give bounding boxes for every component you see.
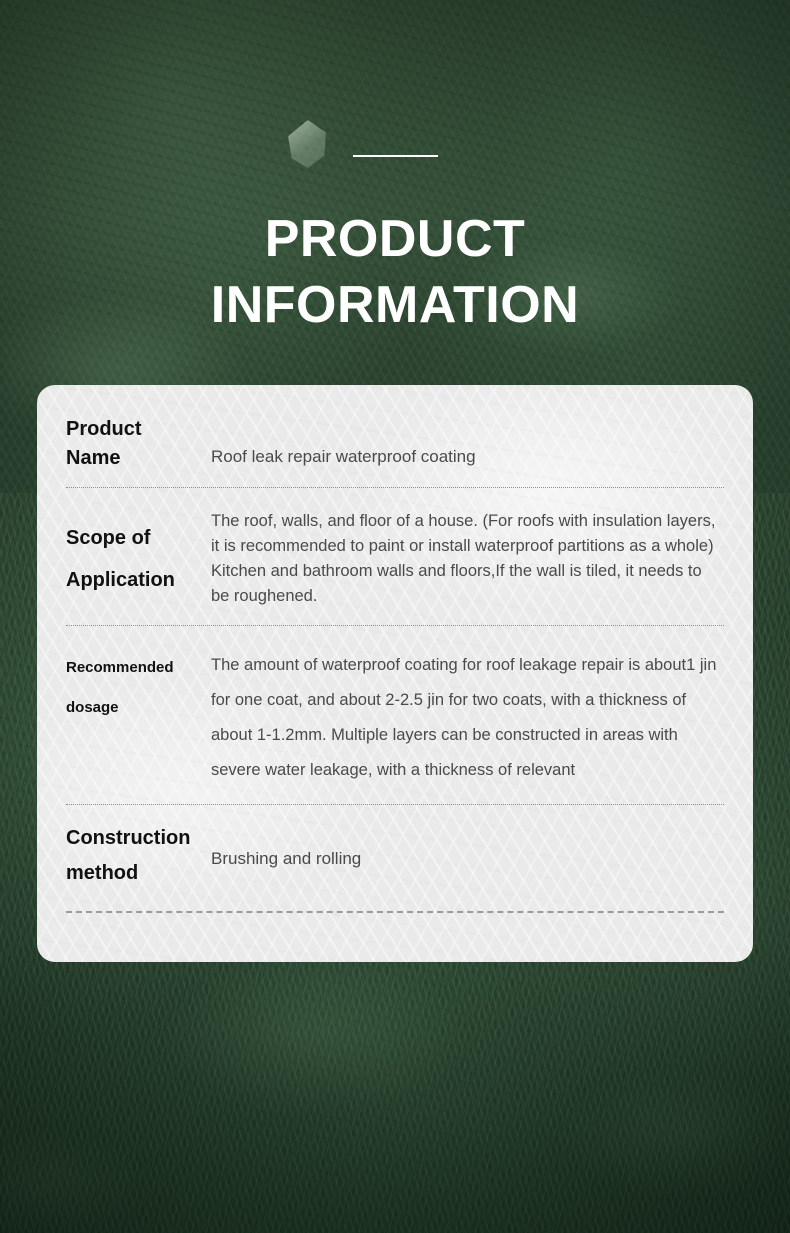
- horizontal-rule-icon: [353, 155, 438, 157]
- row-value-recommended-dosage: The amount of waterproof coating for roo…: [211, 648, 724, 788]
- row-label-line-1: Product: [66, 418, 142, 440]
- page-header: PRODUCT INFORMATION: [0, 0, 790, 380]
- page-title-line-2: INFORMATION: [0, 272, 790, 338]
- table-row-recommended-dosage: Recommended dosage The amount of waterpr…: [66, 626, 724, 804]
- row-value-construction-method: Brushing and rolling: [211, 821, 724, 876]
- row-label-line-2: method: [66, 862, 138, 884]
- row-label-line-1: Construction: [66, 827, 190, 849]
- row-label-recommended-dosage: Recommended dosage: [66, 648, 211, 728]
- row-label-product-name: Product Name: [66, 415, 211, 473]
- table-row-scope-of-application: Scope of Application The roof, walls, an…: [66, 488, 724, 625]
- row-divider-4: [66, 911, 724, 913]
- table-row-construction-method: Construction method Brushing and rolling: [66, 805, 724, 911]
- row-label-line-2: dosage: [66, 699, 119, 716]
- table-row-product-name: Product Name Roof leak repair waterproof…: [66, 385, 724, 487]
- product-information-card: Product Name Roof leak repair waterproof…: [37, 385, 753, 962]
- row-label-line-1: Scope of: [66, 527, 150, 549]
- row-value-product-name: Roof leak repair waterproof coating: [211, 415, 724, 471]
- product-information-page: PRODUCT INFORMATION Product Name Roof le…: [0, 0, 790, 1233]
- row-label-line-2: Name: [66, 447, 120, 469]
- card-content: Product Name Roof leak repair waterproof…: [37, 385, 753, 962]
- header-decoration: [0, 120, 790, 180]
- row-value-scope-of-application: The roof, walls, and floor of a house. (…: [211, 502, 724, 609]
- leaf-diamond-icon: [288, 120, 326, 168]
- page-title-line-1: PRODUCT: [0, 206, 790, 272]
- row-label-line-2: Application: [66, 569, 175, 591]
- page-title: PRODUCT INFORMATION: [0, 206, 790, 338]
- row-label-construction-method: Construction method: [66, 821, 211, 891]
- row-label-line-1: Recommended: [66, 659, 174, 676]
- row-label-scope-of-application: Scope of Application: [66, 502, 211, 601]
